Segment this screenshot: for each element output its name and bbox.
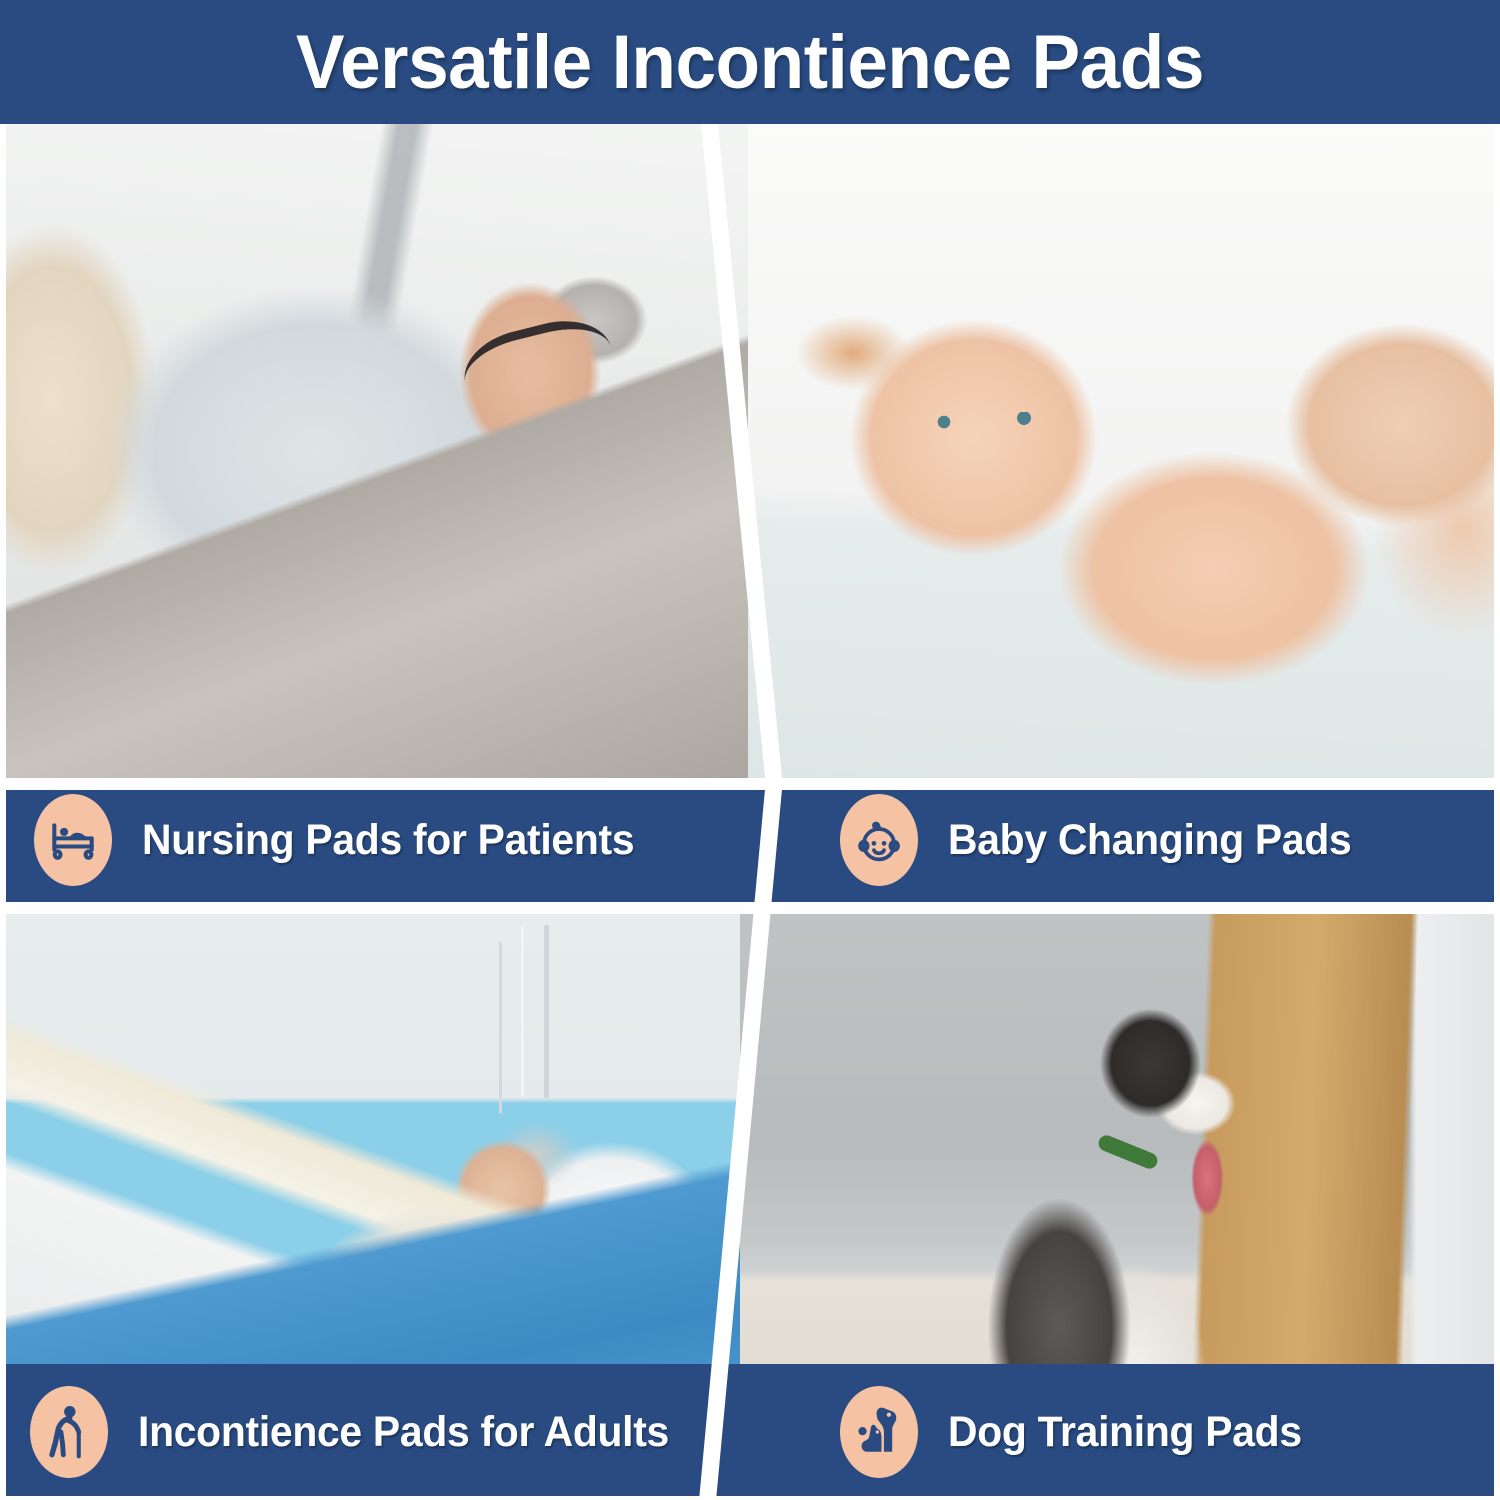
panel-grid: Nursing Pads for Patients bbox=[0, 124, 1500, 1500]
label-incontience-pads-adults[interactable]: Incontience Pads for Adults bbox=[0, 1364, 770, 1500]
label-dog-training-pads[interactable]: Dog Training Pads bbox=[750, 1364, 1500, 1500]
panel-photo-baby bbox=[748, 124, 1500, 778]
baby-on-pad-photo bbox=[748, 124, 1500, 778]
edge-right bbox=[1494, 124, 1500, 1500]
baby-face-icon bbox=[840, 794, 918, 886]
patient-in-bed-photo bbox=[0, 124, 752, 778]
top-label-row: Nursing Pads for Patients bbox=[0, 778, 1500, 902]
label-dog-training-pads-text: Dog Training Pads bbox=[948, 1408, 1302, 1457]
label-baby-changing-pads[interactable]: Baby Changing Pads bbox=[755, 778, 1500, 902]
row-gutter bbox=[0, 902, 1500, 914]
dog-and-cat-icon bbox=[840, 1386, 918, 1478]
label-incontience-pads-adults-text: Incontience Pads for Adults bbox=[138, 1408, 669, 1457]
label-nursing-pads[interactable]: Nursing Pads for Patients bbox=[0, 778, 779, 902]
page-title: Versatile Incontience Pads bbox=[296, 19, 1204, 106]
label-baby-changing-pads-text: Baby Changing Pads bbox=[948, 816, 1351, 865]
page-header: Versatile Incontience Pads bbox=[0, 0, 1500, 124]
edge-bottom bbox=[0, 1496, 1500, 1500]
label-nursing-pads-text: Nursing Pads for Patients bbox=[142, 816, 634, 865]
edge-left bbox=[0, 124, 6, 1500]
elderly-with-cane-icon bbox=[30, 1386, 108, 1478]
patient-in-bed-icon bbox=[34, 794, 112, 886]
product-infographic: Versatile Incontience Pads bbox=[0, 0, 1500, 1500]
bottom-label-row: Incontience Pads for Adults Dog Training bbox=[0, 1364, 1500, 1500]
divider-horizontal bbox=[0, 778, 1500, 790]
panel-photo-nursing bbox=[0, 124, 752, 778]
